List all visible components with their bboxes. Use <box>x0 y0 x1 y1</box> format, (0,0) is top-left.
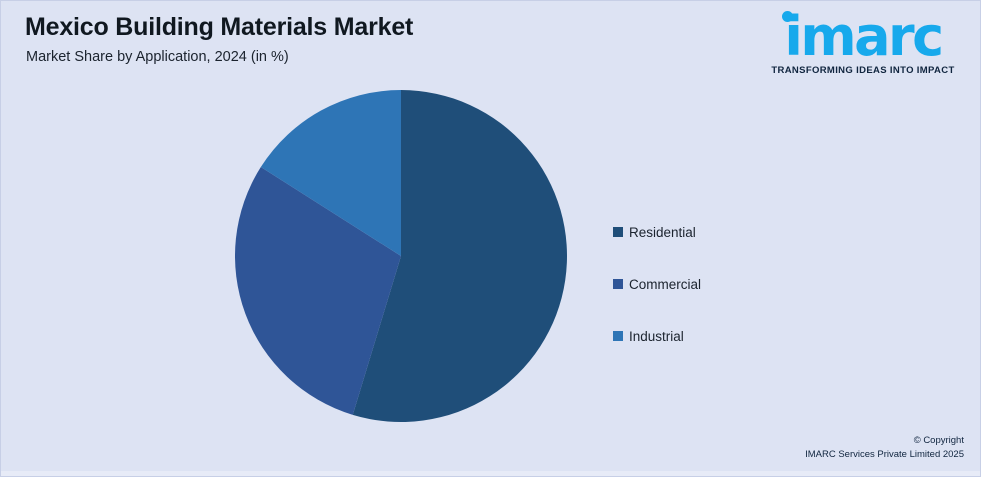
legend-swatch-commercial <box>613 279 623 289</box>
copyright-line-2: IMARC Services Private Limited 2025 <box>805 448 964 462</box>
page-subtitle: Market Share by Application, 2024 (in %) <box>26 49 289 65</box>
logo-mark: imarc <box>758 7 968 67</box>
legend-item-residential[interactable]: Residential <box>613 206 813 258</box>
footer-strip <box>1 471 981 476</box>
legend-label-industrial: Industrial <box>629 329 684 344</box>
legend-item-industrial[interactable]: Industrial <box>613 310 813 362</box>
legend-label-commercial: Commercial <box>629 277 701 292</box>
chart-canvas: Mexico Building Materials Market Market … <box>0 0 981 477</box>
legend-item-commercial[interactable]: Commercial <box>613 258 813 310</box>
logo-dot-icon <box>782 11 793 22</box>
copyright-line-1: © Copyright <box>805 434 964 448</box>
chart-legend: Residential Commercial Industrial <box>613 206 813 362</box>
pie-chart <box>234 89 568 423</box>
copyright-footer: © Copyright IMARC Services Private Limit… <box>805 434 964 462</box>
legend-swatch-industrial <box>613 331 623 341</box>
page-title: Mexico Building Materials Market <box>25 13 413 42</box>
pie-chart-svg <box>234 89 568 423</box>
legend-swatch-residential <box>613 227 623 237</box>
pie-slice-group <box>235 90 567 422</box>
legend-label-residential: Residential <box>629 225 696 240</box>
imarc-logo: imarc TRANSFORMING IDEAS INTO IMPACT <box>758 7 968 93</box>
